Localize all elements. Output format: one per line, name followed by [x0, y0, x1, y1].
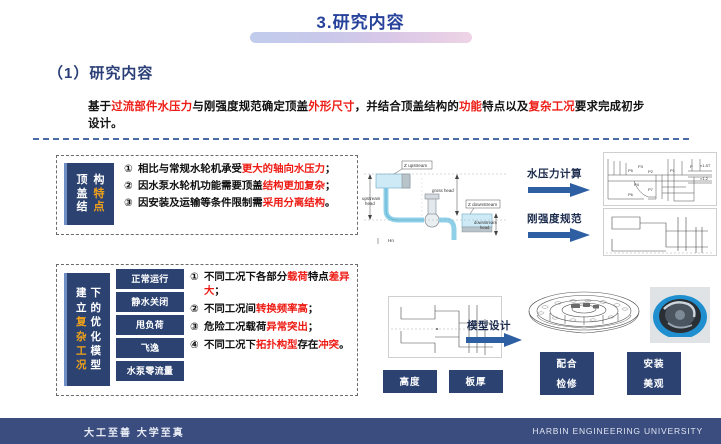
box1-item1-text: 因水泵水轮机功能需要顶盖结构更加复杂； [138, 180, 346, 194]
slide-footer: 大工至善 大学至真 HARBIN ENGINEERING UNIVERSITY [0, 418, 721, 444]
flow-arrow-2-icon [528, 228, 590, 242]
flow-arrow-1-icon [528, 183, 590, 197]
box1-label-col-right: 构 特 点 [91, 174, 108, 215]
box2-item2-pre: 危险工况载荷 [204, 322, 266, 333]
box1-item2-text: 因安装及运输等条件限制需采用分离结构。 [138, 197, 346, 211]
box2-label-r3: 化 [89, 331, 104, 343]
svg-text:head: head [480, 225, 490, 230]
box1-item2-num: ③ [124, 197, 138, 211]
flow-step-3-label: 模型设计 [467, 318, 511, 333]
box1-label-r1: 特 [91, 188, 108, 201]
svg-text:P5: P5 [628, 168, 634, 173]
lead-part1: 基于 [88, 101, 111, 113]
turbine-head-cover-3d-model [525, 285, 643, 347]
condition-button-normal[interactable]: 正常运行 [116, 269, 184, 289]
lead-part3: ，并结合顶盖结构的 [355, 101, 459, 113]
section-heading: （1）研究内容 [48, 62, 153, 83]
flow-step-2-label: 刚强度规范 [527, 211, 582, 226]
svg-text:head: head [365, 201, 375, 206]
box2-item3-hl2: 冲突 [318, 340, 339, 351]
svg-text:×1.2: ×1.2 [700, 176, 709, 181]
box1-label-r0: 构 [91, 174, 108, 187]
title-text: 3.研究内容 [302, 8, 418, 37]
box2-item3-pre: 不同工况下 [204, 340, 256, 351]
box2-label-r5: 型 [89, 359, 104, 371]
lead-paragraph: 基于过流部件水压力与刚强度规范确定顶盖外形尺寸，并结合顶盖结构的功能特点以及复杂… [88, 99, 648, 133]
box2-label-r0: 下 [89, 287, 104, 299]
box1-vertical-label: 顶 盖 结 构 特 点 [64, 163, 114, 225]
box1-item2-hl: 采用分离结构 [263, 198, 325, 209]
box1-item1-hl: 结构更加复杂 [263, 181, 325, 192]
box1-item2-post: 。 [325, 198, 335, 209]
box2-label-col-right: 下 的 优 化 模 型 [89, 287, 104, 371]
svg-text:P3: P3 [638, 164, 644, 169]
box1-label-l2: 结 [74, 201, 91, 214]
installation-photo [650, 287, 710, 343]
box2-item: ③ 危险工况载荷异常突出； [190, 321, 350, 335]
tag-button-aesthetics[interactable]: 美观 [627, 372, 681, 395]
box1-item1-post: ； [325, 181, 335, 192]
box2-vertical-label: 建 立 复 杂 工 况 下 的 优 化 模 型 [64, 273, 110, 386]
lead-hl4: 复杂工况 [529, 101, 575, 113]
svg-text:P1: P1 [670, 168, 676, 173]
box2-item-list: ① 不同工况下各部分载荷特点差异大； ② 不同工况间转换频率高； ③ 危险工况载… [190, 271, 350, 357]
box1-item-list: ① 相比与常规水轮机承受更大的轴向水压力； ② 因水泵水轮机功能需要顶盖结构更加… [124, 163, 346, 214]
box1-item0-num: ① [124, 163, 138, 177]
box2-item0-hl: 载荷 [287, 272, 308, 283]
box1-label-col-left: 顶 盖 结 [74, 174, 91, 215]
svg-text:Z downstream: Z downstream [468, 202, 497, 207]
tag-button-height[interactable]: 高度 [383, 370, 437, 393]
box2-item1-post: ； [308, 304, 318, 315]
condition-button-load-rejection[interactable]: 甩负荷 [116, 315, 184, 335]
svg-text:P7: P7 [648, 187, 654, 192]
box2-item: ① 不同工况下各部分载荷特点差异大； [190, 271, 350, 299]
svg-text:Z upstream: Z upstream [404, 163, 427, 168]
box2-item0-post: ； [214, 286, 224, 297]
footer-motto: 大工至善 大学至真 [84, 424, 185, 439]
box2-label-r2: 优 [89, 316, 104, 328]
box2-item0-pre: 不同工况下各部分 [204, 272, 287, 283]
box1-item: ① 相比与常规水轮机承受更大的轴向水压力； [124, 163, 346, 177]
box2-label-l5: 况 [74, 359, 89, 371]
box2-label-r4: 模 [89, 345, 104, 357]
box1-item0-text: 相比与常规水轮机承受更大的轴向水压力； [138, 163, 346, 177]
operating-condition-list: 正常运行 静水关闭 甩负荷 飞逸 水泵零流量 [116, 269, 184, 384]
box1-label-l0: 顶 [74, 174, 91, 187]
box2-label-col-left: 建 立 复 杂 工 况 [74, 287, 89, 371]
box2-item3-num: ④ [190, 339, 204, 353]
box1-item2-pre: 因安装及运输等条件限制需 [138, 198, 263, 209]
box2-item: ④ 不同工况下拓扑构型存在冲突。 [190, 339, 350, 353]
box2-item1-hl: 转换频率高 [256, 304, 308, 315]
box1-label-l1: 盖 [74, 188, 91, 201]
box2-label-r1: 的 [89, 302, 104, 314]
box2-item0-text: 不同工况下各部分载荷特点差异大； [204, 271, 350, 299]
box2-label-l4: 工 [74, 345, 89, 357]
condition-button-still-water-close[interactable]: 静水关闭 [116, 292, 184, 312]
dashed-divider [33, 138, 689, 140]
slide-title: 3.研究内容 [0, 8, 721, 37]
lead-hl3: 功能 [459, 101, 482, 113]
footer-university-name: HARBIN ENGINEERING UNIVERSITY [532, 426, 703, 436]
box1-label-r2: 点 [91, 201, 108, 214]
svg-text:Hn: Hn [388, 238, 394, 243]
box2-item0-mid: 特点 [308, 272, 329, 283]
condition-button-runaway[interactable]: 飞逸 [116, 338, 184, 358]
box2-item1-text: 不同工况间转换频率高； [204, 303, 350, 317]
box2-item2-text: 危险工况载荷异常突出； [204, 321, 350, 335]
box2-item1-num: ② [190, 303, 204, 317]
box2-label-l0: 建 [74, 287, 89, 299]
condition-button-pump-zero-flow[interactable]: 水泵零流量 [116, 361, 184, 381]
box1-item0-post: ； [325, 164, 335, 175]
lead-part2: 与刚强度规范确定顶盖 [192, 101, 308, 113]
hydraulic-schematic-diagram: Z upstream Z downstream gross head upstr… [362, 158, 512, 246]
flow-arrow-3-icon [466, 333, 522, 347]
svg-text:P: P [690, 164, 693, 169]
svg-text:P4: P4 [634, 182, 640, 187]
lead-hl1: 过流部件水压力 [111, 101, 192, 113]
box2-label-l1: 立 [74, 302, 89, 314]
box2-item3-text: 不同工况下拓扑构型存在冲突。 [204, 339, 350, 353]
tag-button-maintenance[interactable]: 检修 [540, 372, 594, 395]
cad-drawing-section-profile [603, 208, 717, 256]
box1-item: ③ 因安装及运输等条件限制需采用分离结构。 [124, 197, 346, 211]
box2-item: ② 不同工况间转换频率高； [190, 303, 350, 317]
box2-label-l2: 复 [74, 316, 89, 328]
box2-item3-hl: 拓扑构型 [256, 340, 298, 351]
svg-text:P6: P6 [628, 192, 634, 197]
box2-item2-num: ③ [190, 321, 204, 335]
box2-label-l3: 杂 [74, 331, 89, 343]
box2-item1-pre: 不同工况间 [204, 304, 256, 315]
lead-part4: 特点以及 [482, 101, 528, 113]
cad-drawing-pressure-distribution: P5P3P2 P4P6P7 P1P ×1.5T×1.2 [603, 152, 717, 206]
box1-item0-pre: 相比与常规水轮机承受 [138, 164, 242, 175]
box1-item1-num: ② [124, 180, 138, 194]
slide-canvas: 3.研究内容 （1）研究内容 基于过流部件水压力与刚强度规范确定顶盖外形尺寸，并… [0, 0, 721, 444]
box2-item2-post: ； [308, 322, 318, 333]
box2-item3-mid: 存在 [298, 340, 319, 351]
svg-text:P2: P2 [648, 169, 654, 174]
box2-item3-post: 。 [339, 340, 349, 351]
flow-step-1-label: 水压力计算 [527, 166, 582, 181]
box1-item1-pre: 因水泵水轮机功能需要顶盖 [138, 181, 263, 192]
svg-text:×1.5T: ×1.5T [700, 163, 711, 168]
svg-text:gross head: gross head [432, 188, 454, 193]
box2-item0-num: ① [190, 271, 204, 285]
lead-hl2: 外形尺寸 [308, 101, 354, 113]
box1-item0-hl: 更大的轴向水压力 [242, 164, 325, 175]
tag-button-plate-thickness[interactable]: 板厚 [449, 370, 503, 393]
box1-item: ② 因水泵水轮机功能需要顶盖结构更加复杂； [124, 180, 346, 194]
box2-item2-hl: 异常突出 [266, 322, 308, 333]
